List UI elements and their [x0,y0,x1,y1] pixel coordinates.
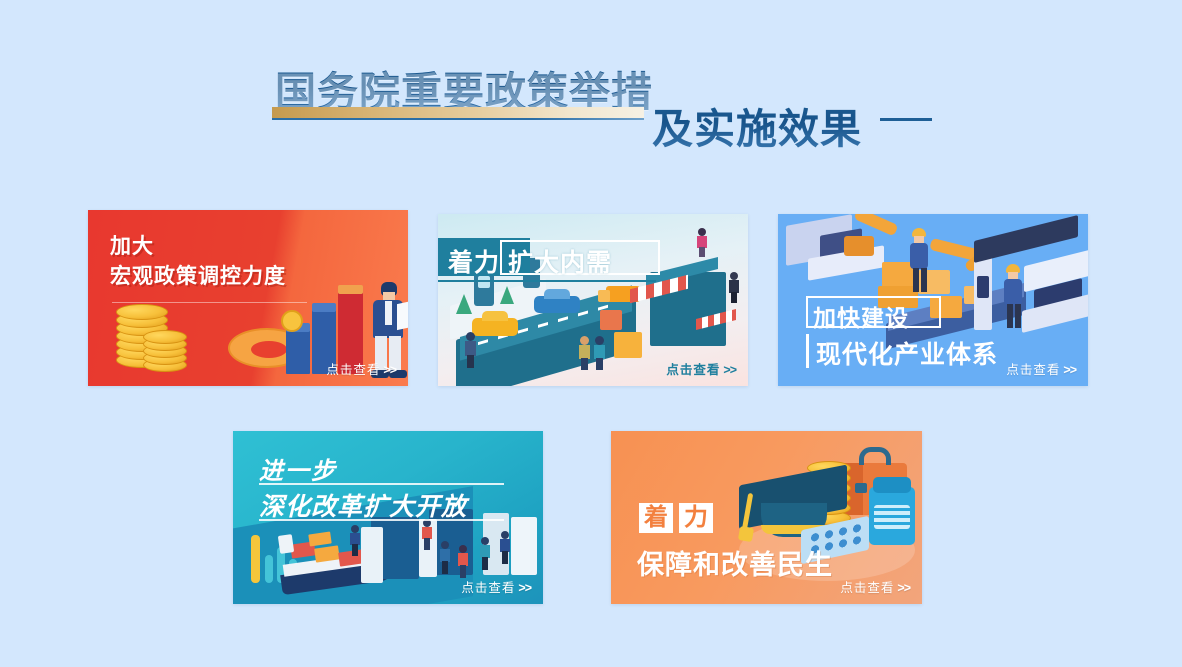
card1-divider [112,302,307,303]
office-booth-4 [511,517,537,575]
card3-title-line1: 加快建设 [813,299,909,333]
shopper-figure-3 [593,336,605,370]
card4-title-line2: 深化改革扩大开放 [259,487,467,523]
card5-cta-label: 点击查看 [840,581,894,595]
title-dash-decoration [880,118,932,121]
card2-divider [438,280,656,282]
truck-cab [598,290,610,302]
tree-icon-2 [500,286,514,304]
card4-cta-label: 点击查看 [461,581,515,595]
gantry-screen [977,276,989,298]
tree-icon-1 [456,294,472,314]
briefcase-handle [859,447,891,465]
office-person-2 [421,519,433,551]
card5-title-chip-1: 着 [639,503,673,533]
card2-cta[interactable]: 点击查看>> [666,359,736,378]
office-person-4 [457,545,469,579]
gift-box-icon [614,332,642,358]
card1-cta-label: 点击查看 [326,363,380,377]
card2-cta-label: 点击查看 [666,363,720,377]
modern-industry-card[interactable]: 加快建设 现代化产业体系 点击查看>> [778,214,1088,386]
card5-title-line1: 着 力 [639,503,713,533]
card4-title-line1: 进一步 [259,451,337,486]
page-title-line2: 及实施效果 [652,95,862,155]
parcel-box-icon [600,310,622,330]
medicine-jar-label [874,505,910,529]
shopper-figure-1 [464,332,476,368]
card4-cta-arrows: >> [518,581,531,595]
worker-figure-1 [908,228,930,294]
card2-title-line1: 着力 [448,243,500,279]
macro-policy-card[interactable]: 加大 宏观政策调控力度 [88,210,408,386]
card3-title-line2: 现代化产业体系 [816,335,998,371]
card3-cta[interactable]: 点击查看>> [1006,359,1076,378]
card1-title: 加大 宏观政策调控力度 [110,232,286,292]
office-booth-1-front [361,527,383,583]
card2-cta-arrows: >> [723,363,736,377]
card1-cta[interactable]: 点击查看>> [326,359,396,378]
single-coin-icon [281,310,303,332]
security-guard-figure [728,272,740,304]
blue-car-top [544,289,570,299]
office-person-3 [439,541,451,575]
card5-cta-arrows: >> [897,581,910,595]
pedestrian-figure [696,228,708,258]
card1-title-line1: 加大 [110,232,286,262]
card3-cta-label: 点击查看 [1006,363,1060,377]
graduation-cap-tassel-tip [738,526,754,542]
title-gold-bar [272,107,644,118]
card2-title-line2: 扩大内需 [508,243,612,279]
office-person-1 [349,525,361,557]
page-header: 国务院重要政策举措 及实施效果 [0,48,1182,158]
medicine-jar-cap [873,477,911,493]
card3-cta-arrows: >> [1063,363,1076,377]
card5-title-chip-2: 力 [679,503,713,533]
livelihood-card[interactable]: 着 力 保障和改善民生 点击查看>> [611,431,922,604]
card1-cta-arrows: >> [383,363,396,377]
growth-bar-1 [265,555,273,583]
growth-bar-yellow [251,535,260,583]
card4-cta[interactable]: 点击查看>> [461,577,531,596]
shopper-figure-2 [578,336,590,370]
worker-figure-2 [1002,264,1024,330]
office-person-5 [479,537,491,571]
yellow-car-top [482,311,508,321]
card5-cta[interactable]: 点击查看>> [840,577,910,596]
reform-opening-card[interactable]: 进一步 深化改革扩大开放 点击查看>> [233,431,543,604]
briefcase-latch [855,483,867,493]
policy-landing-page: 国务院重要政策举措 及实施效果 加大 宏观政策调控力度 [0,0,1182,667]
ship-bridge [278,534,294,554]
robot-arm-base-1 [844,236,874,256]
coin-stack-small-icon [143,330,193,370]
bar-chart-bar-1 [286,330,310,374]
card3-title-accent-bar [806,334,809,368]
card1-title-line2: 宏观政策调控力度 [110,262,286,292]
title-underline [272,118,644,120]
card5-title-line2: 保障和改善民生 [637,543,833,582]
expand-demand-card[interactable]: 着力 扩大内需 点击查看>> [438,214,748,386]
office-person-6 [499,531,511,565]
